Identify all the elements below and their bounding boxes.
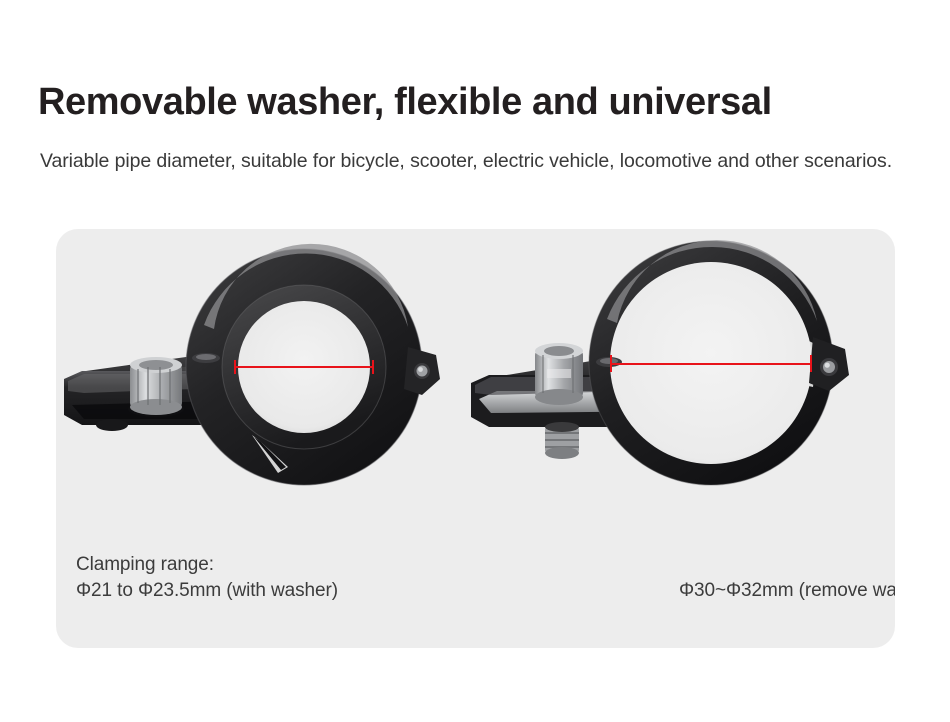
page-subtitle: Variable pipe diameter, suitable for bic…	[40, 148, 900, 175]
adjust-bolt	[128, 357, 184, 417]
shoulder-screw	[192, 353, 220, 363]
shoulder-screw	[596, 357, 622, 367]
clamp-hinge-boss	[809, 337, 849, 391]
clamp-with-washer-illustration	[56, 229, 476, 559]
clamp-remove-washer-illustration	[461, 229, 895, 559]
right-product-figure: Φ30~Φ32mm (remove washer)	[461, 229, 895, 648]
dimension-cap-right-start	[610, 355, 612, 372]
page-title: Removable washer, flexible and universal	[38, 79, 772, 125]
left-caption-line2: Φ21 to Φ23.5mm (with washer)	[76, 578, 338, 604]
adjust-bolt	[535, 343, 583, 405]
clamp-ring	[186, 244, 422, 485]
mount-screw	[545, 422, 579, 459]
dimension-line-left	[234, 366, 374, 368]
product-showcase-card: Clamping range: Φ21 to Φ23.5mm (with was…	[56, 229, 895, 648]
dimension-cap-left-end	[372, 360, 374, 374]
right-caption-line1: Φ30~Φ32mm (remove washer)	[679, 578, 895, 604]
left-caption-line1: Clamping range:	[76, 552, 214, 578]
clamp-hinge-boss	[404, 347, 440, 395]
dimension-line-right	[610, 363, 812, 365]
dimension-cap-right-end	[810, 355, 812, 372]
left-product-figure: Clamping range: Φ21 to Φ23.5mm (with was…	[56, 229, 476, 648]
dimension-cap-left-start	[234, 360, 236, 374]
